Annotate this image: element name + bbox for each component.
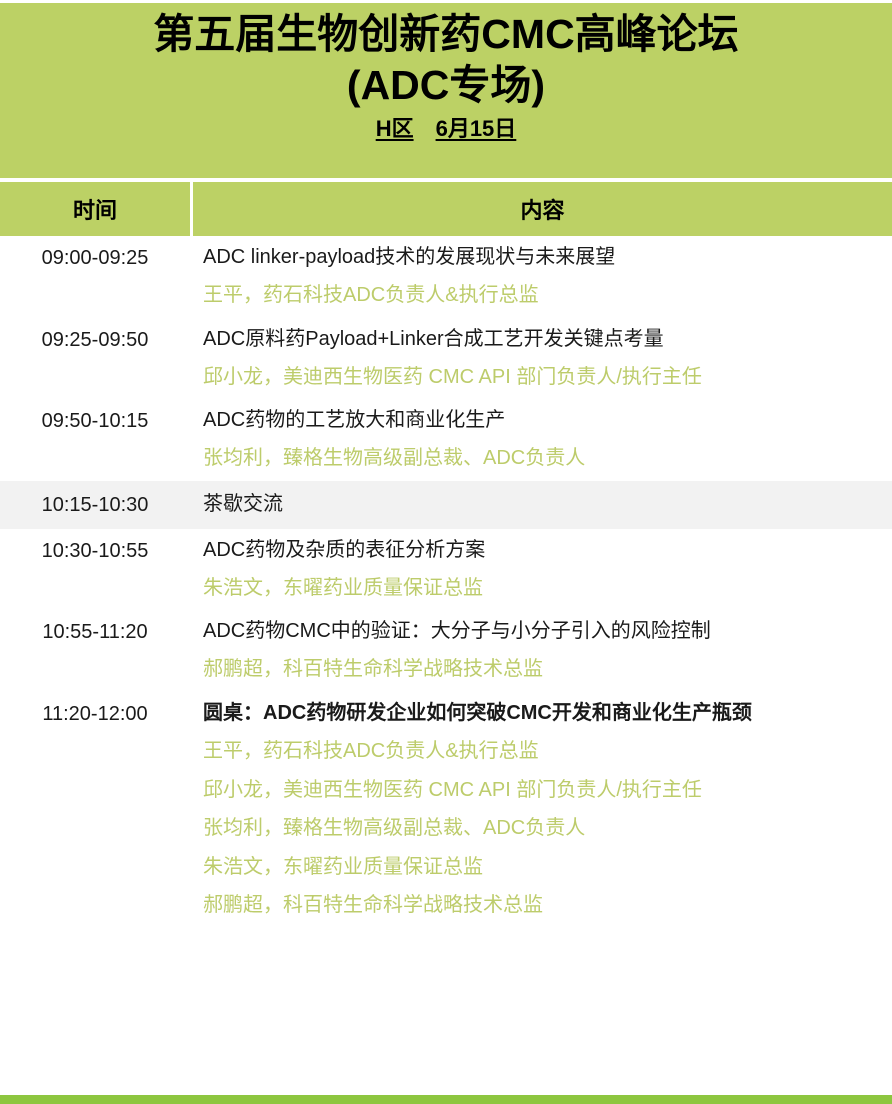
date-label: 6月15日 bbox=[436, 116, 517, 141]
speaker-line: 王平，药石科技ADC负责人&执行总监 bbox=[203, 281, 882, 311]
session-title: ADC linker-payload技术的发展现状与未来展望 bbox=[203, 243, 882, 272]
page-title: 第五届生物创新药CMC高峰论坛 (ADC专场) bbox=[10, 9, 882, 111]
table-row: 10:15-10:30茶歇交流 bbox=[0, 481, 892, 529]
row-content: ADC药物及杂质的表征分析方案朱浩文，东曜药业质量保证总监 bbox=[190, 536, 892, 604]
table-row: 09:25-09:50ADC原料药Payload+Linker合成工艺开发关键点… bbox=[0, 318, 892, 400]
session-title: ADC药物CMC中的验证：大分子与小分子引入的风险控制 bbox=[203, 617, 882, 646]
speaker-line: 邱小龙，美迪西生物医药 CMC API 部门负责人/执行主任 bbox=[203, 776, 882, 806]
table-row: 09:00-09:25ADC linker-payload技术的发展现状与未来展… bbox=[0, 236, 892, 318]
table-row: 09:50-10:15ADC药物的工艺放大和商业化生产张均利，臻格生物高级副总裁… bbox=[0, 399, 892, 481]
row-time: 10:55-11:20 bbox=[0, 617, 190, 647]
row-content: ADC药物的工艺放大和商业化生产张均利，臻格生物高级副总裁、ADC负责人 bbox=[190, 406, 892, 474]
row-time: 09:00-09:25 bbox=[0, 243, 190, 273]
row-time: 10:30-10:55 bbox=[0, 536, 190, 566]
speaker-line: 郝鹏超，科百特生命科学战略技术总监 bbox=[203, 655, 882, 685]
session-title: 茶歇交流 bbox=[203, 490, 882, 519]
banner-subtitle: H区6月15日 bbox=[10, 117, 882, 141]
footer-accent-bar bbox=[0, 1095, 892, 1104]
column-header-time: 时间 bbox=[0, 182, 190, 236]
speaker-line: 邱小龙，美迪西生物医药 CMC API 部门负责人/执行主任 bbox=[203, 363, 882, 393]
table-header-row: 时间 内容 bbox=[0, 182, 892, 236]
row-time: 11:20-12:00 bbox=[0, 699, 190, 729]
row-content: ADC linker-payload技术的发展现状与未来展望王平，药石科技ADC… bbox=[190, 243, 892, 311]
speaker-line: 郝鹏超，科百特生命科学战略技术总监 bbox=[203, 891, 882, 921]
agenda-table-body: 09:00-09:25ADC linker-payload技术的发展现状与未来展… bbox=[0, 236, 892, 928]
title-line-1: 第五届生物创新药CMC高峰论坛 bbox=[10, 9, 882, 60]
table-row: 10:55-11:20ADC药物CMC中的验证：大分子与小分子引入的风险控制郝鹏… bbox=[0, 610, 892, 692]
speaker-line: 朱浩文，东曜药业质量保证总监 bbox=[203, 574, 882, 604]
session-title: ADC药物的工艺放大和商业化生产 bbox=[203, 406, 882, 435]
agenda-page: 第五届生物创新药CMC高峰论坛 (ADC专场) H区6月15日 时间 内容 09… bbox=[0, 0, 892, 1104]
row-content: ADC药物CMC中的验证：大分子与小分子引入的风险控制郝鹏超，科百特生命科学战略… bbox=[190, 617, 892, 685]
table-row: 11:20-12:00圆桌：ADC药物研发企业如何突破CMC开发和商业化生产瓶颈… bbox=[0, 692, 892, 928]
venue-label: H区 bbox=[376, 116, 414, 141]
row-time: 09:50-10:15 bbox=[0, 406, 190, 436]
table-row: 10:30-10:55ADC药物及杂质的表征分析方案朱浩文，东曜药业质量保证总监 bbox=[0, 529, 892, 611]
speaker-line: 张均利，臻格生物高级副总裁、ADC负责人 bbox=[203, 444, 882, 474]
speaker-line: 朱浩文，东曜药业质量保证总监 bbox=[203, 853, 882, 883]
title-line-2: (ADC专场) bbox=[10, 60, 882, 111]
session-title: 圆桌：ADC药物研发企业如何突破CMC开发和商业化生产瓶颈 bbox=[203, 699, 882, 728]
row-content: 茶歇交流 bbox=[190, 490, 892, 519]
session-title: ADC原料药Payload+Linker合成工艺开发关键点考量 bbox=[203, 325, 882, 354]
title-banner: 第五届生物创新药CMC高峰论坛 (ADC专场) H区6月15日 bbox=[0, 3, 892, 178]
row-time: 10:15-10:30 bbox=[0, 490, 190, 520]
speaker-line: 张均利，臻格生物高级副总裁、ADC负责人 bbox=[203, 814, 882, 844]
session-title: ADC药物及杂质的表征分析方案 bbox=[203, 536, 882, 565]
row-content: 圆桌：ADC药物研发企业如何突破CMC开发和商业化生产瓶颈王平，药石科技ADC负… bbox=[190, 699, 892, 921]
column-header-content: 内容 bbox=[193, 182, 892, 236]
row-time: 09:25-09:50 bbox=[0, 325, 190, 355]
row-content: ADC原料药Payload+Linker合成工艺开发关键点考量邱小龙，美迪西生物… bbox=[190, 325, 892, 393]
speaker-line: 王平，药石科技ADC负责人&执行总监 bbox=[203, 737, 882, 767]
